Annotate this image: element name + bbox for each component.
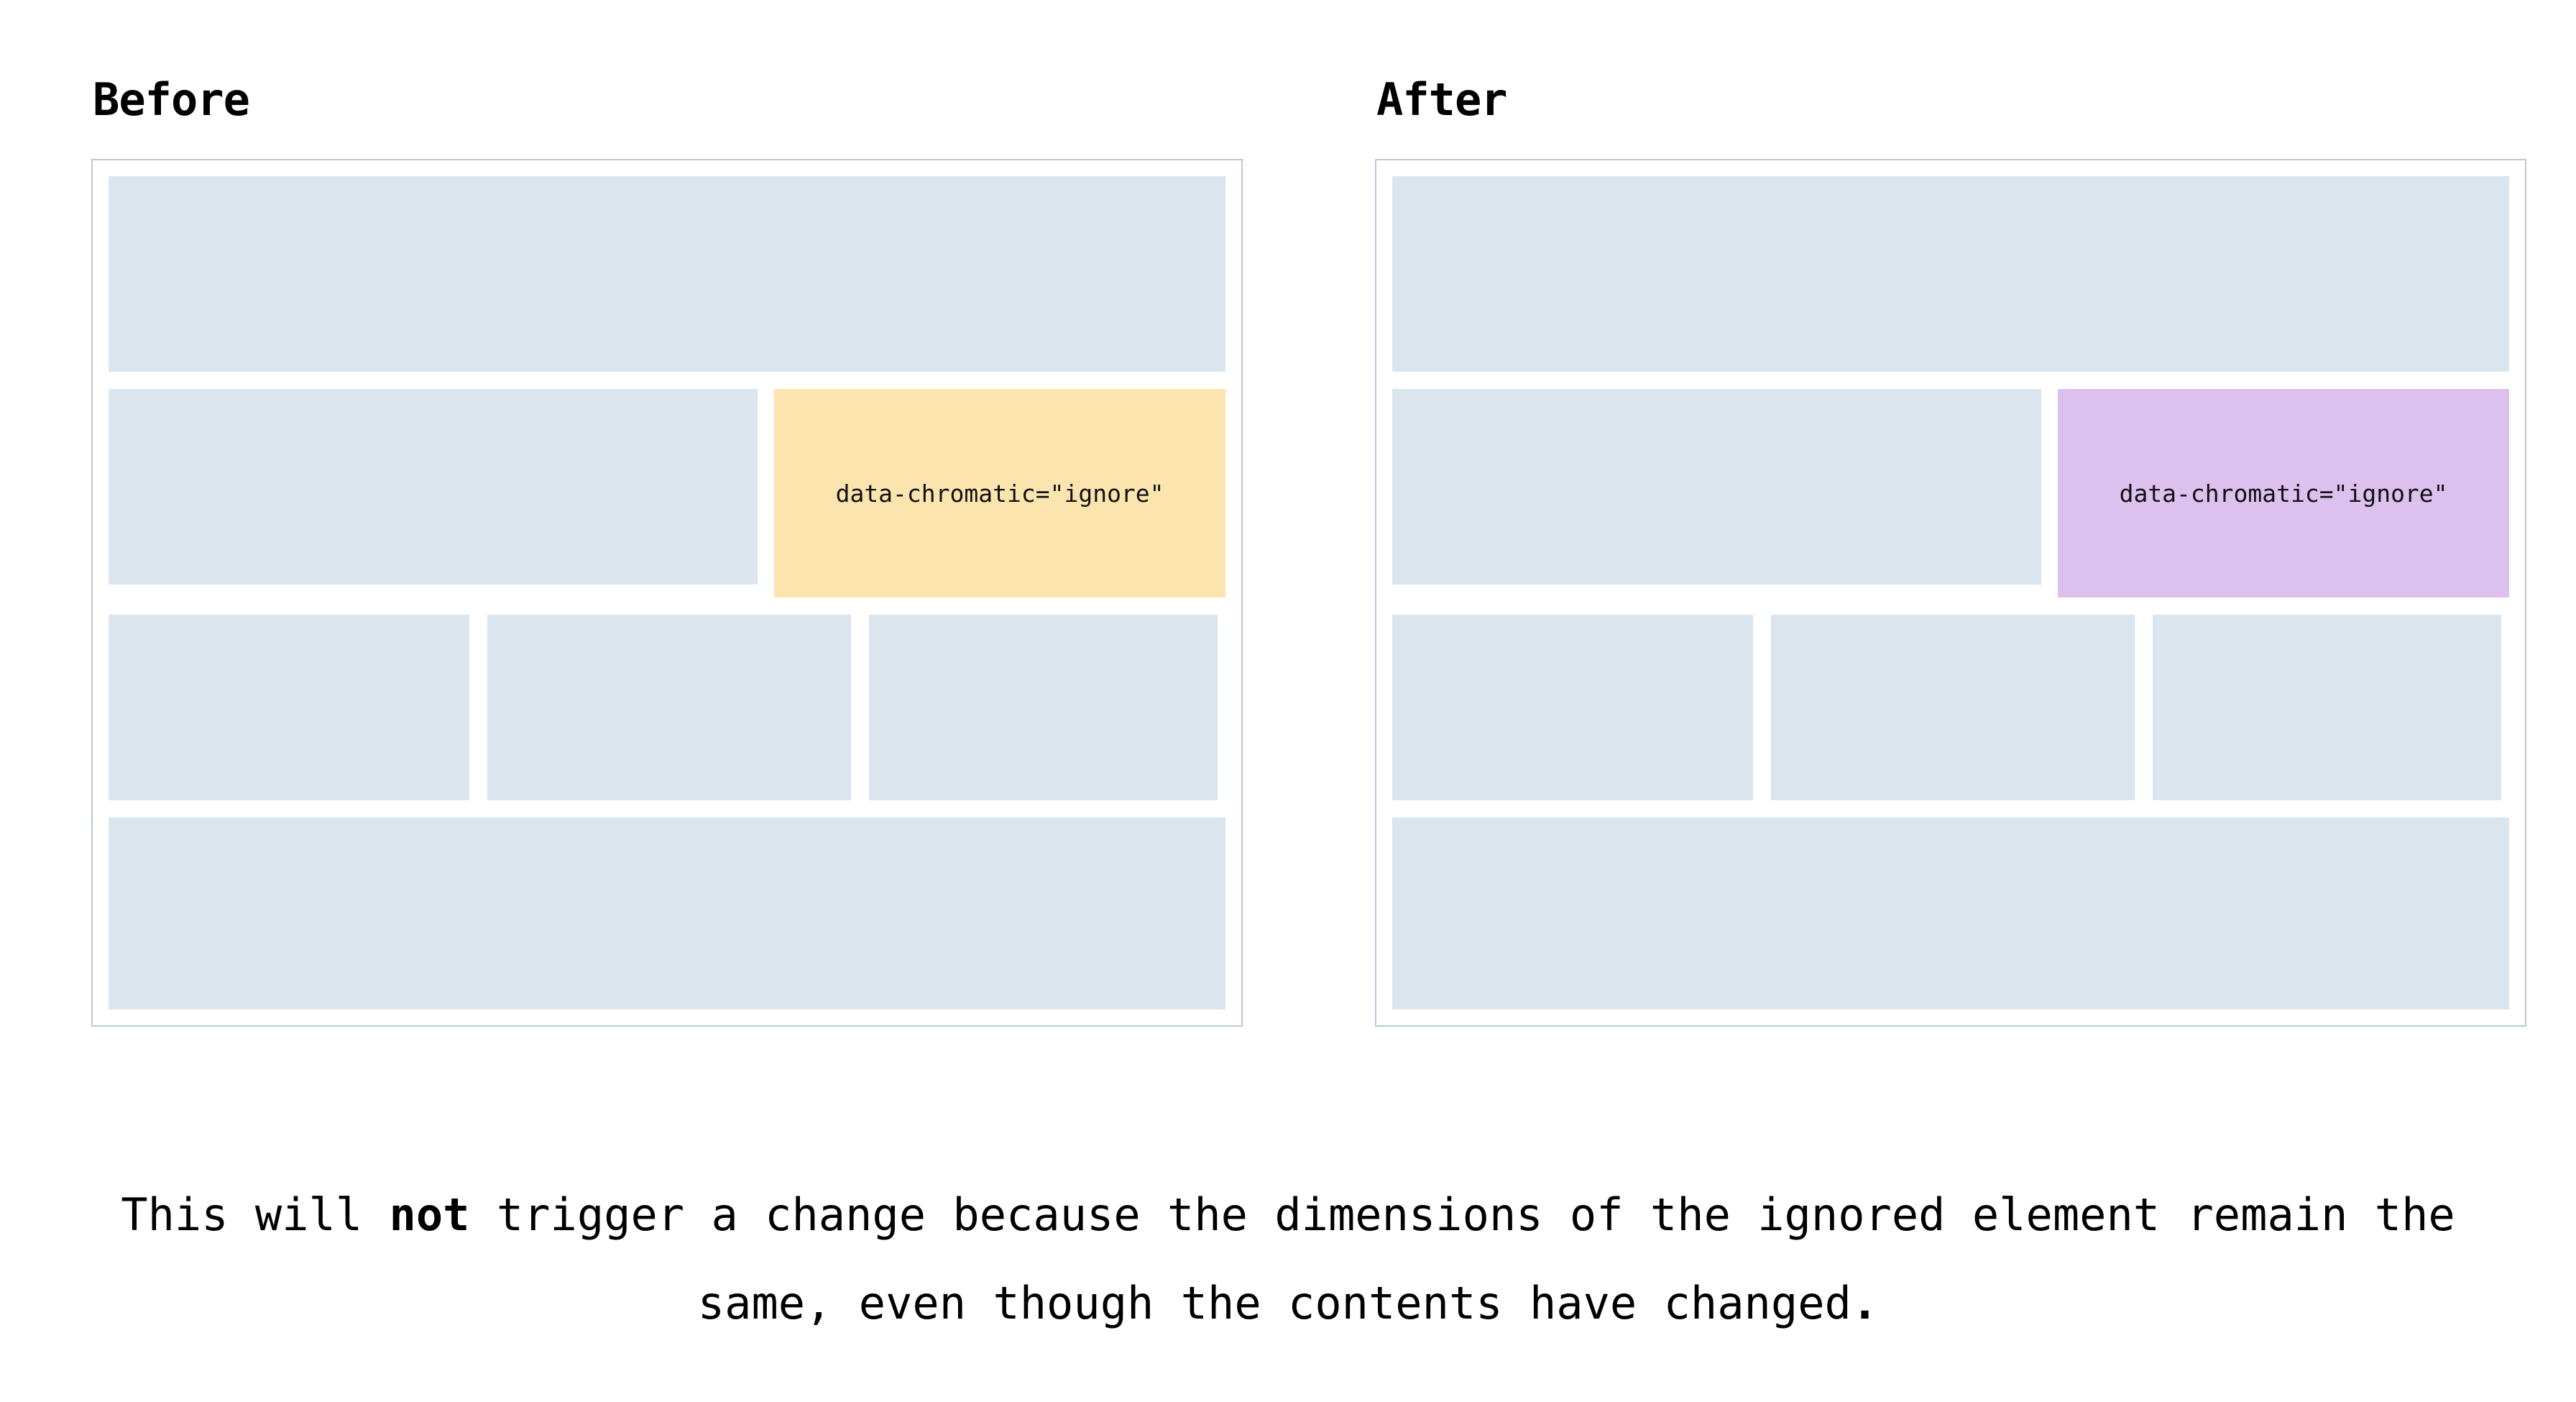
skeleton-frame-before: data-chromatic="ignore" xyxy=(91,159,1243,1027)
caption-line1-post: trigger a change because the dimensions … xyxy=(470,1188,1946,1241)
panel-before: Before data-chromatic="ignore" xyxy=(91,0,1243,1027)
skeleton-block xyxy=(109,817,1225,1009)
skeleton-block xyxy=(1392,176,2509,372)
skeleton-block xyxy=(869,615,1218,800)
skeleton-row-1 xyxy=(1392,176,2509,372)
panels-container: Before data-chromatic="ignore" xyxy=(0,0,2576,1027)
skeleton-frame-after: data-chromatic="ignore" xyxy=(1375,159,2526,1027)
caption-emphasis-not: not xyxy=(390,1188,470,1241)
panel-after: After data-chromatic="ignore" xyxy=(1375,0,2526,1027)
skeleton-row-4 xyxy=(1392,817,2509,1009)
skeleton-block xyxy=(1392,389,2041,585)
skeleton-block xyxy=(2153,615,2501,800)
skeleton-block xyxy=(109,389,758,585)
panel-title-before: Before xyxy=(93,0,1243,122)
skeleton-row-3 xyxy=(1392,615,2509,800)
ignored-element-before: data-chromatic="ignore" xyxy=(774,389,1225,597)
figure-caption: This will not trigger a change because t… xyxy=(0,1170,2576,1347)
skeleton-row-1 xyxy=(109,176,1225,372)
skeleton-row-3 xyxy=(109,615,1225,800)
skeleton-block xyxy=(1392,615,1753,800)
skeleton-block xyxy=(1392,817,2509,1009)
skeleton-row-4 xyxy=(109,817,1225,1009)
skeleton-block xyxy=(109,615,469,800)
skeleton-row-2: data-chromatic="ignore" xyxy=(1392,389,2509,597)
skeleton-row-2: data-chromatic="ignore" xyxy=(109,389,1225,597)
ignored-element-after: data-chromatic="ignore" xyxy=(2058,389,2509,597)
panel-title-after: After xyxy=(1376,0,2526,122)
comparison-figure: Before data-chromatic="ignore" xyxy=(0,0,2576,1402)
caption-line1-pre: This will xyxy=(121,1188,389,1241)
skeleton-block xyxy=(1771,615,2135,800)
skeleton-block xyxy=(487,615,852,800)
skeleton-block xyxy=(109,176,1225,372)
caption-line2-period: . xyxy=(1851,1277,1878,1329)
